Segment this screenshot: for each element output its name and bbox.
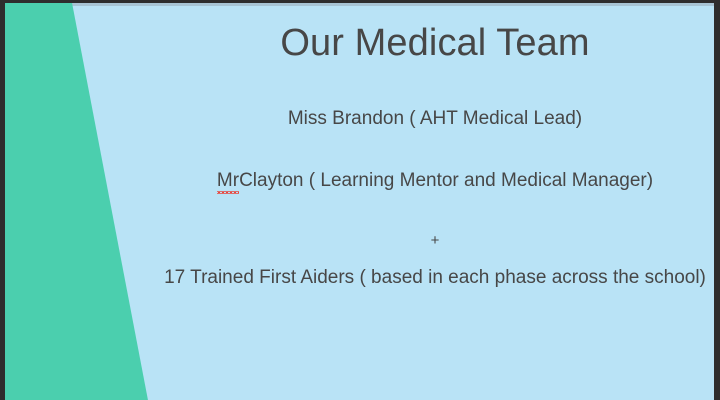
slide-content: Our Medical Team Miss Brandon ( AHT Medi… xyxy=(5,3,714,400)
body-line-plus-separator: + xyxy=(155,232,714,249)
body-line-miss-brandon: Miss Brandon ( AHT Medical Lead) xyxy=(155,108,714,130)
slide-canvas[interactable]: Our Medical Team Miss Brandon ( AHT Medi… xyxy=(5,3,714,400)
slide-viewport: Our Medical Team Miss Brandon ( AHT Medi… xyxy=(0,0,720,400)
body-line-mr-clayton-rest: Clayton ( Learning Mentor and Medical Ma… xyxy=(239,170,653,191)
slide-title: Our Medical Team xyxy=(155,22,714,65)
body-line-mr-clayton: Mr Clayton ( Learning Mentor and Medical… xyxy=(155,170,714,192)
misspelled-word-mr: Mr xyxy=(217,170,239,192)
body-line-first-aiders: 17 Trained First Aiders ( based in each … xyxy=(155,263,714,293)
